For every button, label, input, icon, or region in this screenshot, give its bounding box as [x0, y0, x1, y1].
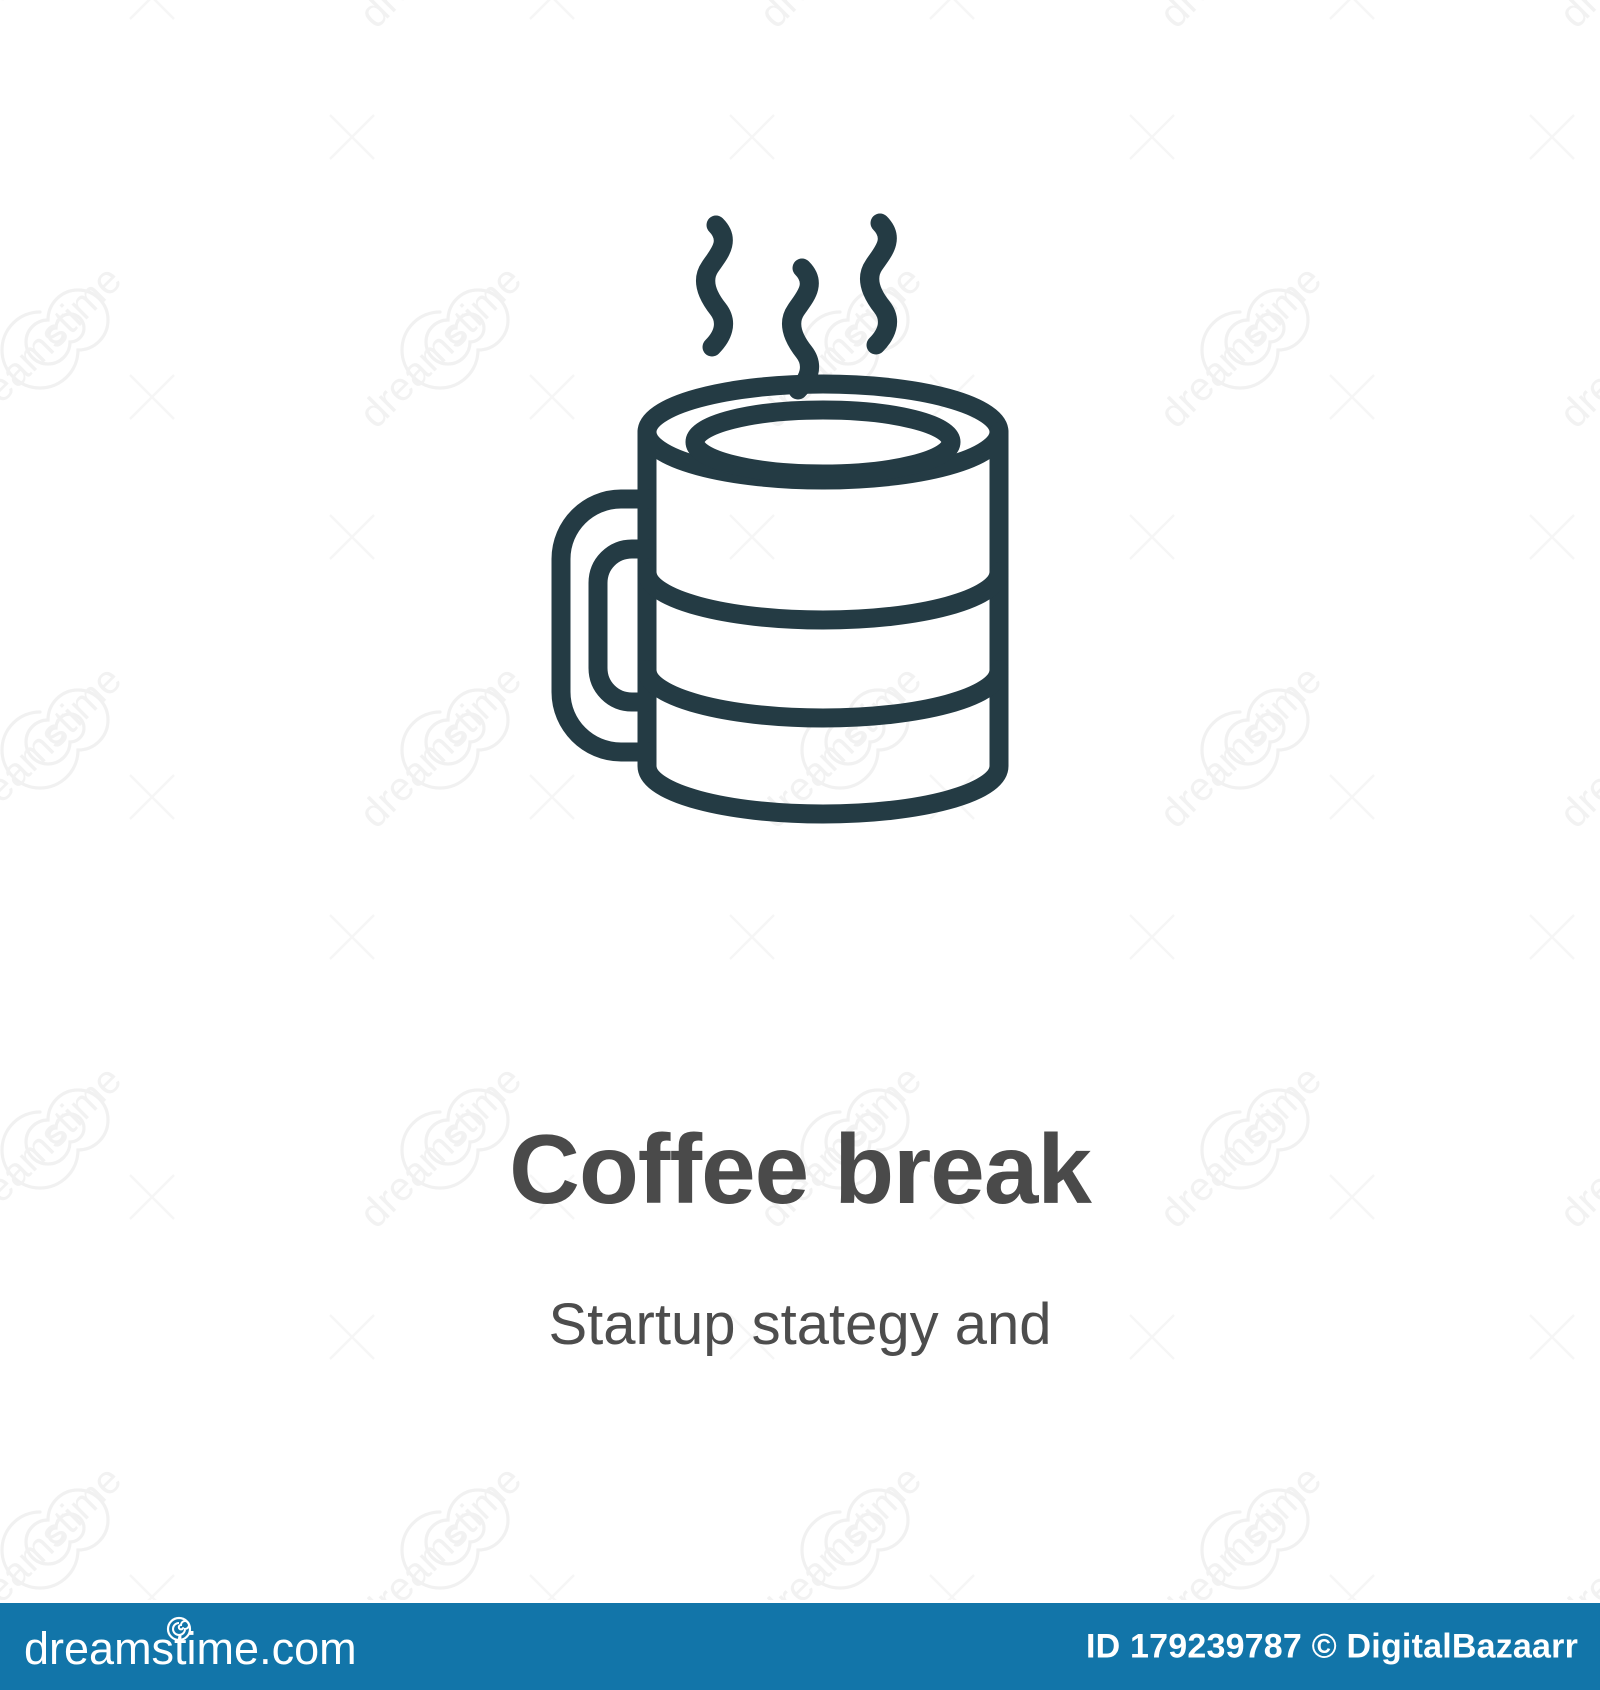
dreamstime-logo[interactable]: dreamstime.com	[24, 1616, 364, 1678]
footer-bar: dreamstime.com ID 179239787 © DigitalBaz…	[0, 1603, 1600, 1690]
stock-photo-preview: dreamstime	[0, 0, 1600, 1690]
caption-block: Coffee break Startup stategy and	[0, 1120, 1600, 1354]
steam-wisp-center	[792, 268, 810, 390]
coffee-mug-steam-outline-icon	[520, 200, 1080, 900]
steam-wisp-left	[706, 225, 724, 347]
page-title: Coffee break	[0, 1120, 1600, 1218]
mug-stripe-lower	[647, 670, 999, 718]
mug-rim-inner	[695, 410, 951, 474]
dreamstime-logo-icon: dreamstime.com	[24, 1616, 364, 1678]
steam-wisp-right	[870, 223, 888, 345]
image-credit: ID 179239787 © DigitalBazaarr	[1086, 1627, 1578, 1666]
page-subtitle: Startup stategy and	[0, 1218, 1600, 1354]
icon-artwork-container	[0, 190, 1600, 910]
mug-stripe-upper	[647, 572, 999, 620]
